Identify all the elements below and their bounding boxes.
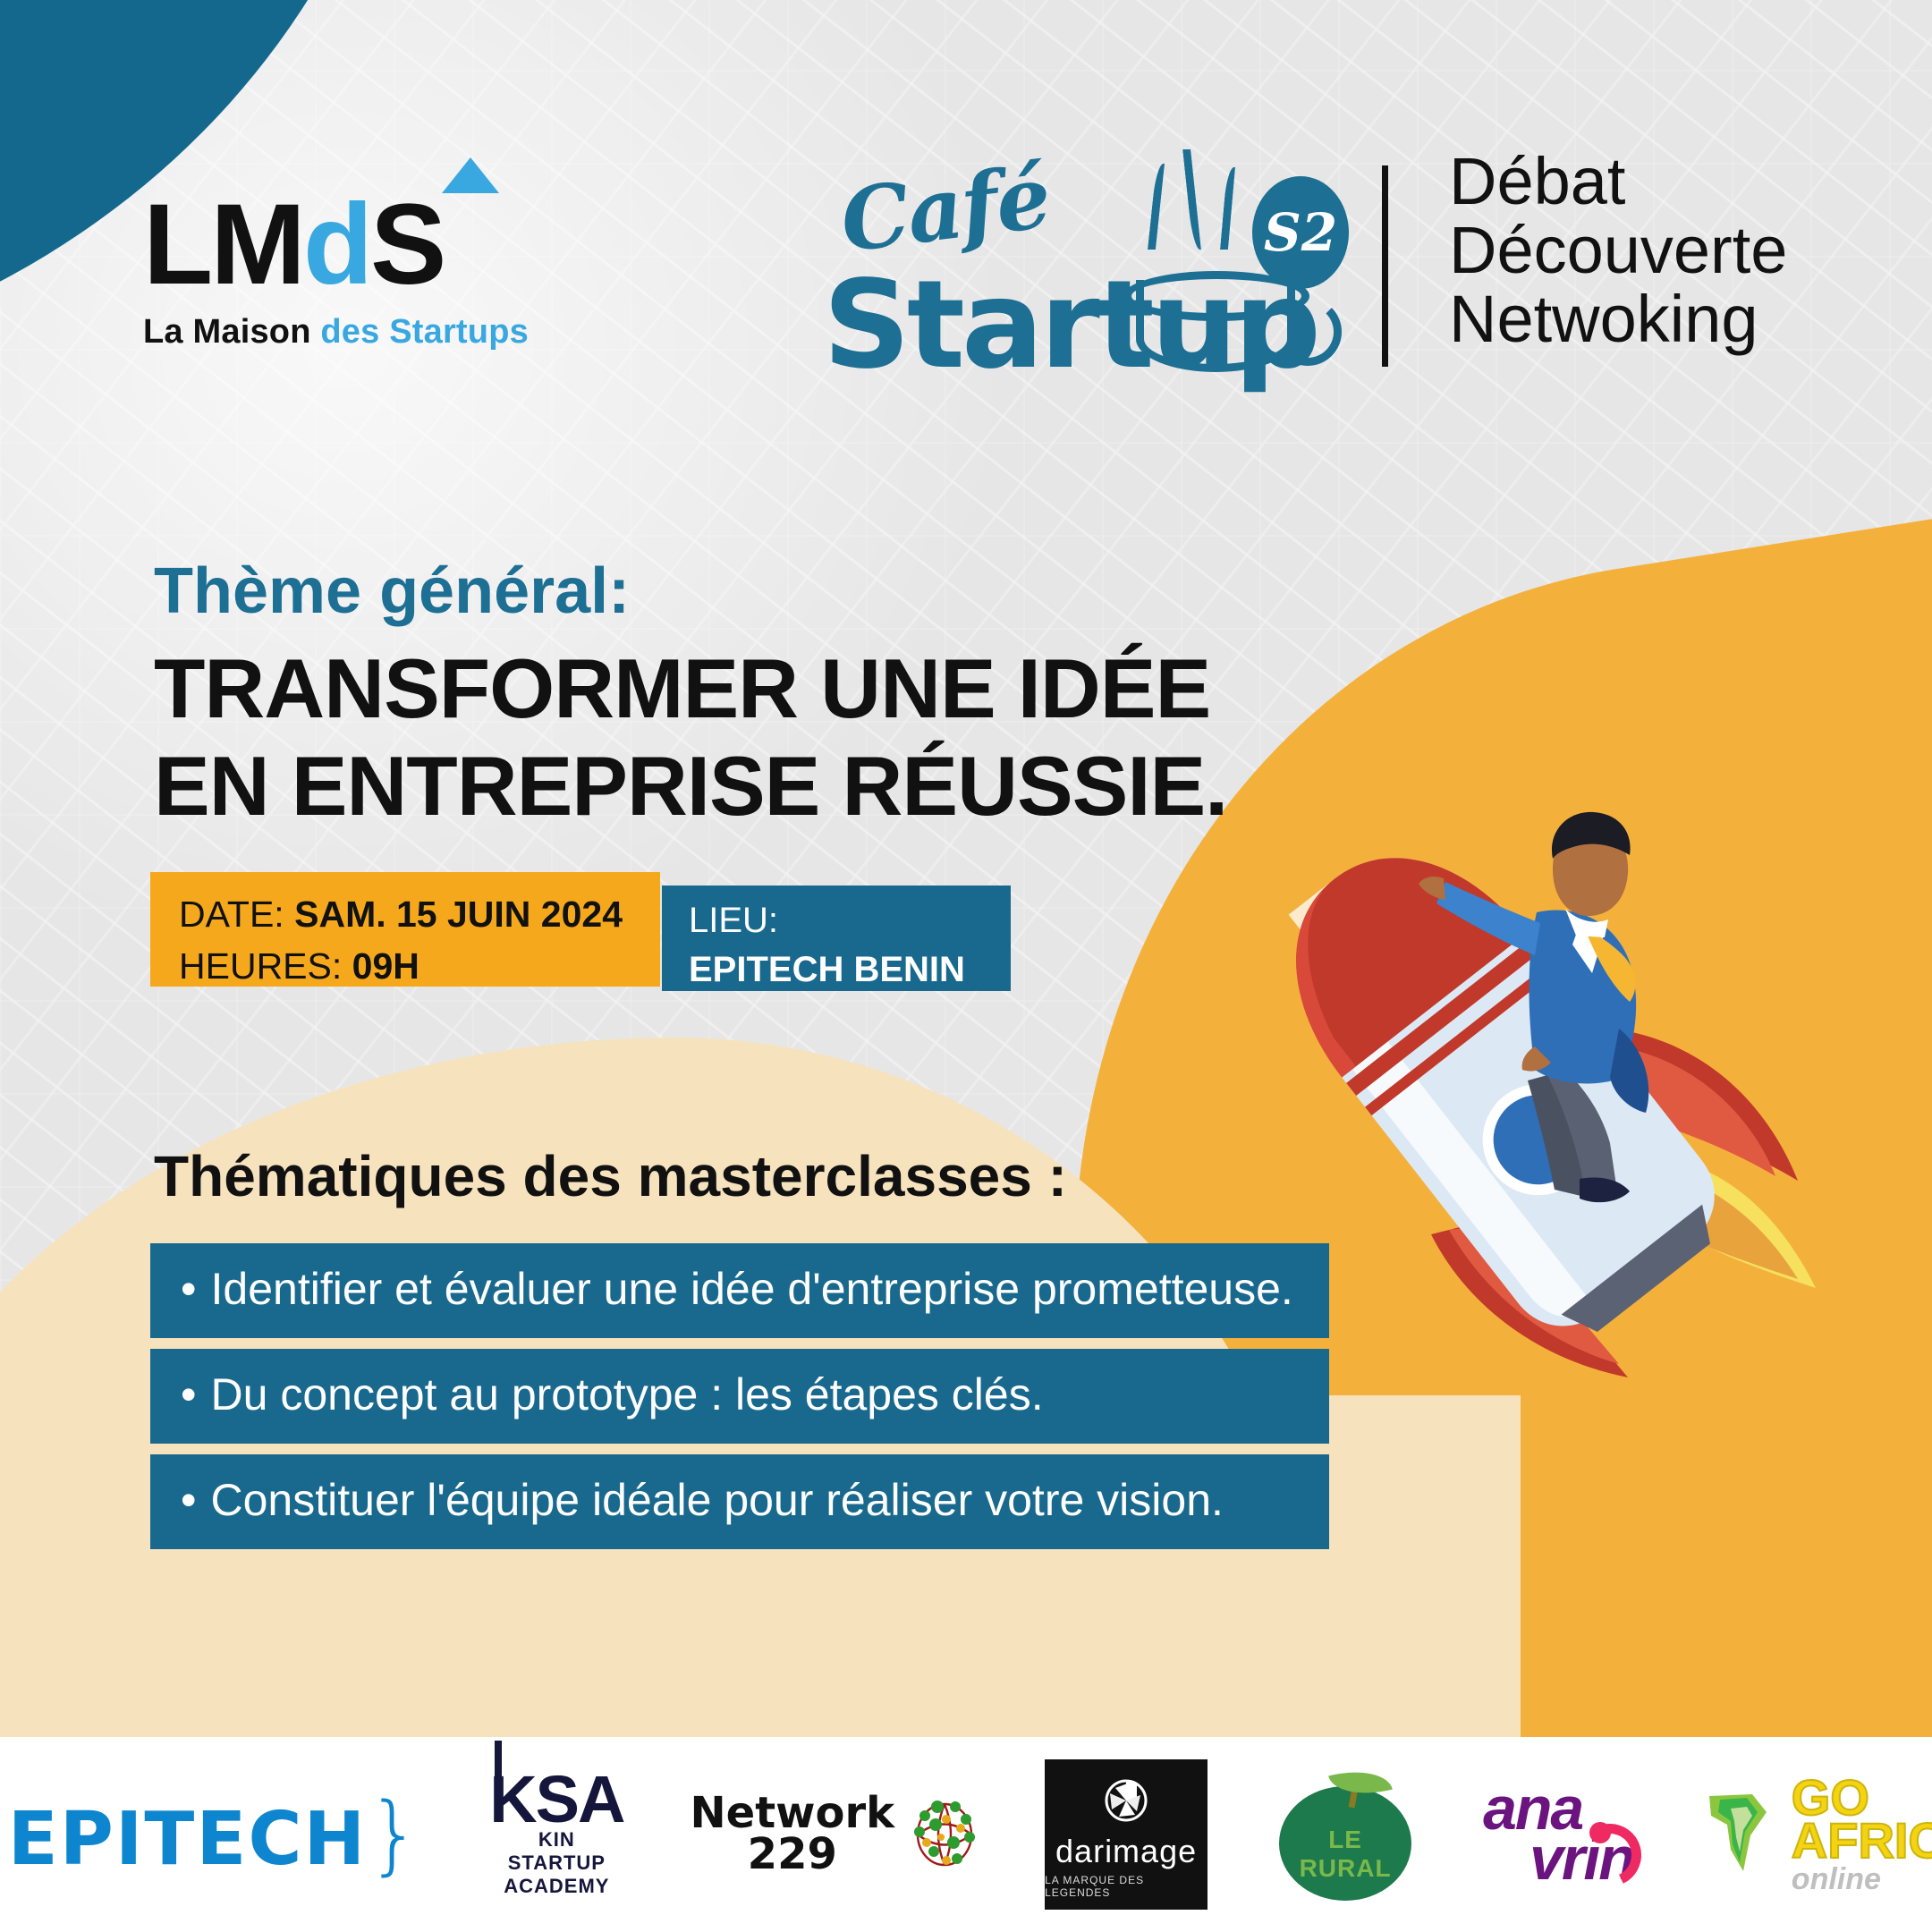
venue-box: LIEU: EPITECH BENIN [662, 885, 1011, 991]
poster-header: LMdS La Maison des Startups Café Startup… [0, 0, 1932, 420]
sponsor-epitech: {EPITECH} [0, 1784, 423, 1885]
theme-label: Thème général: [154, 555, 630, 628]
masterclasses-list: •Identifier et évaluer une idée d'entrep… [150, 1243, 1329, 1560]
brace-open-icon: { [0, 1784, 8, 1885]
network-globe-icon [902, 1796, 979, 1873]
event-poster: LMdS La Maison des Startups Café Startup… [0, 0, 1932, 1932]
cafe-startup-logo: Café Startup S2 [832, 121, 1333, 380]
list-item-label: Constituer l'équipe idéale pour réaliser… [211, 1475, 1224, 1525]
hours-label: HEURES: [179, 945, 342, 987]
list-item: •Identifier et évaluer une idée d'entrep… [150, 1243, 1329, 1338]
lmds-letter-d: d [303, 181, 370, 309]
date-row: DATE: SAM. 15 JUIN 2024 [179, 888, 660, 940]
lmds-letter-s: S [370, 181, 444, 309]
cup-handle [1274, 298, 1342, 366]
lmds-logo: LMdS La Maison des Startups [143, 188, 529, 352]
goafrica-label-africa: AFRICA [1792, 1819, 1932, 1862]
cafe-script-word: Café [835, 146, 1055, 272]
steam-icon [1182, 149, 1210, 250]
brace-close-icon: } [367, 1784, 423, 1885]
circumflex-icon [442, 157, 499, 193]
list-item-label: Du concept au prototype : les étapes clé… [211, 1369, 1044, 1419]
header-divider [1382, 165, 1388, 367]
theme-title-line-2: EN ENTREPRISE RÉUSSIE. [154, 737, 1227, 835]
sponsor-go-africa-online: GO AFRICA online [1700, 1776, 1932, 1893]
hours-value: 09H [352, 945, 419, 987]
theme-title-line-1: TRANSFORMER UNE IDÉE [154, 640, 1227, 737]
sponsor-darimage: darimage LA MARQUE DES LEGENDES [1045, 1759, 1207, 1910]
lmds-tagline-black: La Maison [143, 313, 320, 351]
season-badge: S2 [1252, 176, 1349, 289]
list-item: •Constituer l'équipe idéale pour réalise… [150, 1454, 1329, 1549]
lmds-wordmark: LMdS [143, 188, 529, 302]
date-value: SAM. 15 JUIN 2024 [294, 894, 623, 935]
sponsor-logos: {EPITECH} KSA KIN STARTUP ACADEMY Networ… [0, 1737, 1932, 1932]
tagline-line-2: Découverte [1449, 216, 1787, 285]
tower-icon [495, 1741, 502, 1780]
tagline-line-1: Débat [1449, 148, 1787, 216]
network-number: 229 [690, 1835, 894, 1876]
lmds-letters-lm: LM [143, 181, 303, 309]
bullet-icon: • [181, 1474, 197, 1526]
tagline-line-3: Netwoking [1449, 285, 1787, 354]
steam-icon [1220, 167, 1244, 250]
date-time-box: DATE: SAM. 15 JUIN 2024 HEURES: 09H [150, 872, 660, 987]
africa-map-icon [1700, 1785, 1783, 1884]
venue-value: EPITECH BENIN [689, 950, 965, 989]
list-item-label: Identifier et évaluer une idée d'entrepr… [211, 1264, 1293, 1314]
lmds-tagline-blue: des Startups [320, 313, 529, 351]
lmds-tagline: La Maison des Startups [143, 313, 529, 352]
sponsor-le-rural: LE RURAL 1er Comparateur de Prix Agricol… [1274, 1763, 1417, 1906]
steam-icon [1148, 164, 1174, 250]
darimage-label: darimage [1055, 1833, 1197, 1870]
darimage-sub-label: LA MARQUE DES LEGENDES [1045, 1874, 1207, 1899]
sponsor-anavrin: ana vrin [1483, 1784, 1634, 1885]
hours-row: HEURES: 09H [179, 940, 660, 992]
bullet-icon: • [181, 1263, 197, 1315]
bullet-icon: • [181, 1368, 197, 1420]
camera-shutter-icon [1097, 1770, 1155, 1827]
date-label: DATE: [179, 894, 284, 935]
list-item: •Du concept au prototype : les étapes cl… [150, 1349, 1329, 1444]
rocket-illustration [1225, 733, 1905, 1395]
sponsor-ksa: KSA KIN STARTUP ACADEMY [489, 1771, 623, 1898]
ksa-initials: KSA [489, 1771, 623, 1828]
ksa-sub-label: KIN STARTUP ACADEMY [489, 1828, 623, 1898]
epitech-label: EPITECH [8, 1797, 367, 1882]
masterclasses-heading: Thématiques des masterclasses : [154, 1143, 1067, 1209]
sponsor-network229: Network 229 [690, 1793, 979, 1875]
goafrica-label-online: online [1792, 1867, 1932, 1893]
season-badge-label: S2 [1264, 202, 1337, 263]
le-rural-sub-label: 1er Comparateur de Prix Agricole [1283, 1852, 1408, 1860]
event-tagline: Débat Découverte Netwoking [1449, 148, 1787, 354]
theme-title: TRANSFORMER UNE IDÉE EN ENTREPRISE RÉUSS… [154, 640, 1227, 835]
venue-label: LIEU: [689, 896, 1011, 945]
